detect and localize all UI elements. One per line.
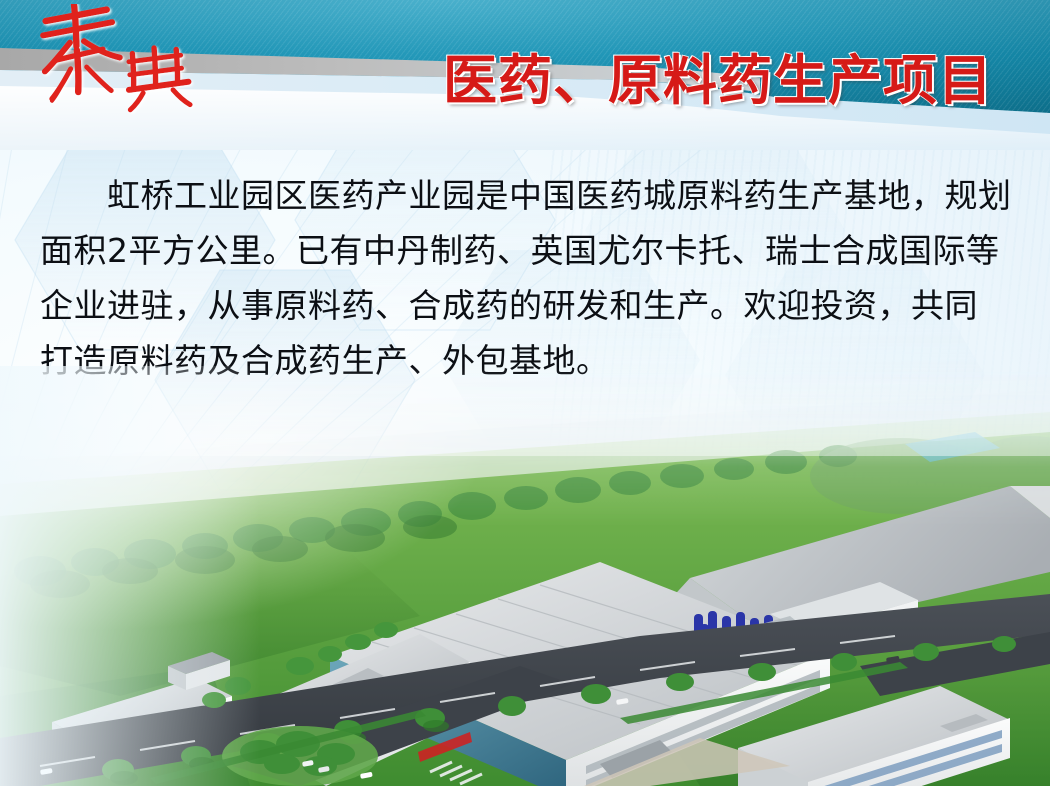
page-title: 医药、原料药生产项目 bbox=[443, 36, 993, 115]
paragraph-line-3: 企业进驻，从事原料药、合成药的研发和生产。欢迎投资，共同 bbox=[40, 278, 1015, 333]
industrial-park-aerial-photo bbox=[0, 366, 1050, 786]
presentation-slide: 医药、原料药生产项目 虹桥工业园区医药产业园是中国医药城原料药生产基地，规划 面… bbox=[0, 0, 1050, 786]
slide-header: 医药、原料药生产项目 bbox=[0, 0, 1050, 150]
paragraph-line-1: 虹桥工业园区医药产业园是中国医药城原料药生产基地，规划 bbox=[40, 168, 1015, 223]
content-paragraph: 虹桥工业园区医药产业园是中国医药城原料药生产基地，规划 面积2平方公里。已有中丹… bbox=[40, 168, 1015, 388]
paragraph-line-2: 面积2平方公里。已有中丹制药、英国尤尔卡托、瑞士合成国际等 bbox=[40, 223, 1015, 278]
